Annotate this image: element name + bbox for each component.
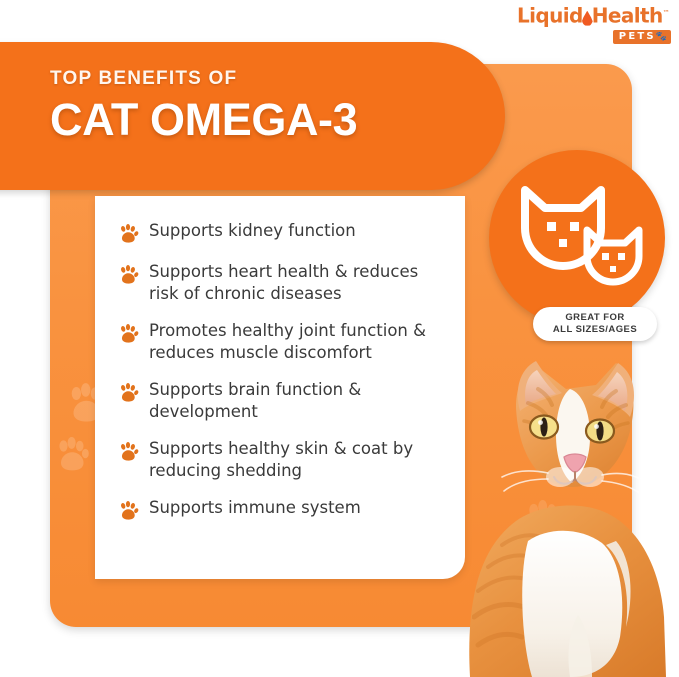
- infographic-canvas: LiquidHealth™ PETS🐾 TOP BENEFITS OF CAT …: [0, 0, 679, 677]
- benefit-text: Promotes healthy joint function & reduce…: [149, 320, 449, 363]
- list-item: Supports immune system: [117, 497, 455, 522]
- brand-name-part1: Liquid: [517, 4, 583, 28]
- brand-sub-label-text: PETS: [619, 31, 656, 42]
- list-item: Promotes healthy joint function & reduce…: [117, 320, 455, 363]
- benefit-text: Supports kidney function: [149, 220, 356, 242]
- paw-print-icon: [117, 500, 139, 522]
- badge-line-1: GREAT FOR: [565, 312, 624, 324]
- header-banner: TOP BENEFITS OF CAT OMEGA-3: [0, 42, 505, 190]
- paw-print-icon: [117, 382, 139, 404]
- benefit-text: Supports heart health & reduces risk of …: [149, 261, 449, 304]
- watermark-paw-icon: [51, 436, 91, 476]
- benefits-card: Supports kidney function Supports heart …: [95, 196, 465, 579]
- orange-tabby-cat-photo: [420, 345, 679, 677]
- benefit-text: Supports healthy skin & coat by reducing…: [149, 438, 449, 481]
- page-title: CAT OMEGA-3: [50, 94, 357, 146]
- paw-print-icon: [117, 441, 139, 463]
- benefits-list: Supports kidney function Supports heart …: [117, 220, 455, 522]
- paw-print-icon: [117, 264, 139, 286]
- brand-name-part2: Health: [592, 4, 663, 28]
- list-item: Supports brain function & development: [117, 379, 455, 422]
- list-item: Supports kidney function: [117, 220, 455, 245]
- list-item: Supports heart health & reduces risk of …: [117, 261, 455, 304]
- list-item: Supports healthy skin & coat by reducing…: [117, 438, 455, 481]
- benefit-text: Supports brain function & development: [149, 379, 449, 422]
- status-badge: GREAT FOR ALL SIZES/AGES: [533, 307, 657, 341]
- paw-print-icon: [117, 223, 139, 245]
- header-text-group: TOP BENEFITS OF CAT OMEGA-3: [50, 68, 357, 146]
- brand-name: LiquidHealth™: [511, 3, 671, 26]
- two-cat-faces-icon: [489, 150, 665, 326]
- benefit-text: Supports immune system: [149, 497, 361, 519]
- paw-print-icon: [117, 323, 139, 345]
- paw-glyph-icon: 🐾: [656, 32, 667, 42]
- trademark-symbol: ™: [663, 9, 669, 17]
- brand-sub-label: PETS🐾: [613, 30, 671, 44]
- brand-logo: LiquidHealth™ PETS🐾: [511, 3, 671, 37]
- badge-line-2: ALL SIZES/AGES: [553, 324, 637, 336]
- header-kicker: TOP BENEFITS OF: [50, 68, 357, 90]
